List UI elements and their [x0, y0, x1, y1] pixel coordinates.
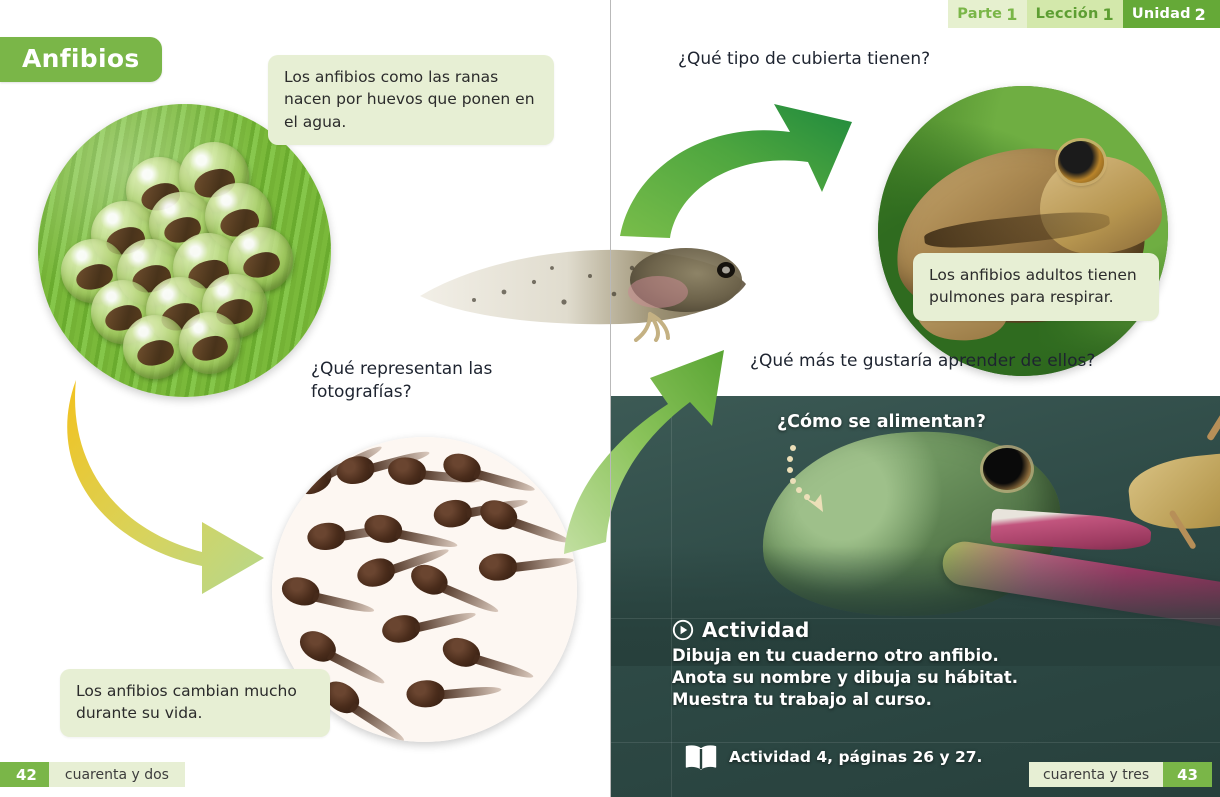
footer-left-number: 42: [0, 762, 49, 787]
arrow-eggs-to-tadpoles-icon: [50, 362, 350, 602]
header-tabs: Parte 1 Lección 1 Unidad 2: [948, 0, 1220, 28]
tab-parte[interactable]: Parte 1: [948, 0, 1026, 28]
book-reference-text: Actividad 4, páginas 26 y 27.: [729, 748, 982, 766]
arrow-tadpoles-to-frog-icon: [548, 326, 758, 594]
callout-eggs: Los anfibios como las ranas nacen por hu…: [268, 55, 554, 145]
activity-heading: Actividad: [702, 618, 810, 642]
page-title: Anfibios: [0, 37, 162, 82]
tab-leccion-label: Lección: [1036, 6, 1099, 22]
activity-line-3: Muestra tu trabajo al curso.: [672, 689, 1018, 711]
photo-frog-eggs: [38, 104, 331, 397]
tab-leccion[interactable]: Lección 1: [1027, 0, 1123, 28]
photo-adult-frog: [878, 86, 1168, 376]
footer-right-page: cuarenta y tres 43: [1029, 762, 1212, 787]
tab-unidad-number: 2: [1195, 5, 1206, 24]
activity-line-2: Anota su nombre y dibuja su hábitat.: [672, 667, 1018, 689]
dotted-curved-arrow-icon: [785, 440, 855, 520]
activity-block: Actividad Dibuja en tu cuaderno otro anf…: [672, 618, 1018, 711]
panel-guide-line: [611, 742, 1220, 743]
photo-tadpole-with-legs: [414, 222, 764, 342]
footer-left-page: 42 cuarenta y dos: [0, 762, 185, 787]
textbook-spread: Parte 1 Lección 1 Unidad 2 Anfibios: [0, 0, 1220, 797]
book-reference-row[interactable]: Actividad 4, páginas 26 y 27.: [684, 744, 982, 770]
callout-lungs: Los anfibios adultos tienen pulmones par…: [913, 253, 1159, 321]
photo-frog-eggs-image: [38, 104, 331, 397]
footer-right-words: cuarenta y tres: [1029, 762, 1163, 787]
footer-left-words: cuarenta y dos: [49, 762, 185, 787]
activity-instructions: Dibuja en tu cuaderno otro anfibio. Anot…: [672, 645, 1018, 711]
callout-change: Los anfibios cambian mucho durante su vi…: [60, 669, 330, 737]
question-feeding: ¿Cómo se alimentan?: [777, 412, 986, 432]
footer-right-number: 43: [1163, 762, 1212, 787]
open-book-icon: [684, 744, 718, 770]
page-spine-divider: [610, 0, 611, 797]
question-cover: ¿Qué tipo de cubierta tienen?: [678, 48, 930, 71]
tab-parte-label: Parte: [957, 6, 1002, 22]
play-circle-icon: [672, 619, 694, 641]
photo-adult-frog-image: [878, 86, 1168, 376]
activity-line-1: Dibuja en tu cuaderno otro anfibio.: [672, 645, 1018, 667]
question-more: ¿Qué más te gustaría aprender de ellos?: [750, 350, 1095, 373]
tab-leccion-number: 1: [1103, 5, 1114, 24]
tab-parte-number: 1: [1006, 5, 1017, 24]
tab-unidad-label: Unidad: [1132, 6, 1191, 22]
activity-heading-row: Actividad: [672, 618, 1018, 642]
tab-unidad[interactable]: Unidad 2: [1123, 0, 1220, 28]
question-photos: ¿Qué representan las fotografías?: [311, 358, 511, 404]
